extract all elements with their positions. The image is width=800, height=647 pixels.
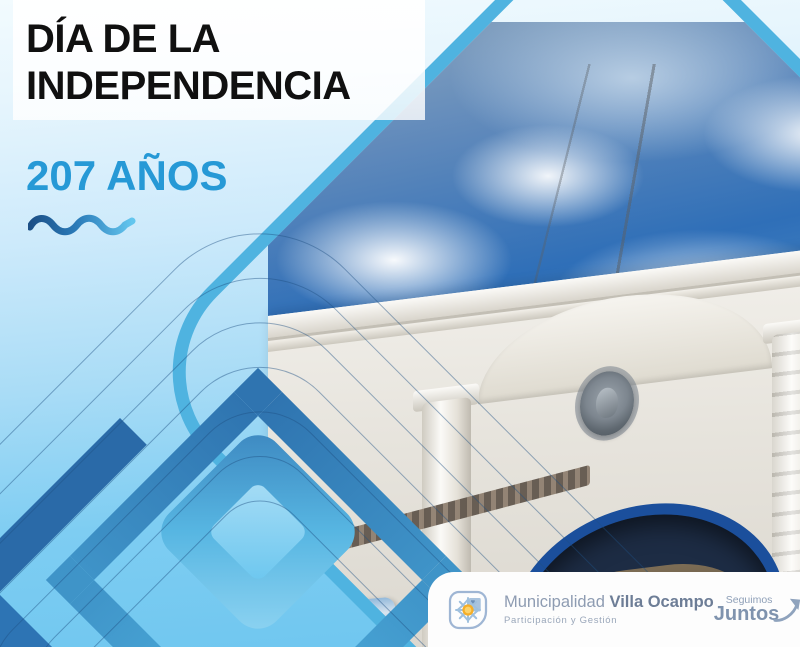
wave-divider-icon <box>28 214 136 236</box>
municipality-name-line: Municipalidad Villa Ocampo <box>504 593 714 611</box>
seguimos-juntos-logo: Seguimos Juntos <box>714 595 800 625</box>
poster-canvas: DÍA DE LAINDEPENDENCIA 207 AÑOS <box>0 0 800 647</box>
title-line-2: INDEPENDENCIA <box>26 63 426 110</box>
municipality-name: Villa Ocampo <box>609 593 713 611</box>
title-line-1: DÍA DE LA <box>26 17 220 61</box>
municipality-tagline: Participación y Gestión <box>504 615 714 626</box>
arrow-up-right-icon <box>773 595 800 625</box>
municipality-prefix: Municipalidad <box>504 593 609 611</box>
years-label: 207 AÑOS <box>26 152 228 200</box>
page-title: DÍA DE LAINDEPENDENCIA <box>26 16 426 110</box>
slogan-big: Juntos <box>714 604 780 624</box>
municipality-text-block: Municipalidad Villa Ocampo Participación… <box>504 593 714 625</box>
logo-bar: Municipalidad Villa Ocampo Participación… <box>428 572 800 647</box>
municipality-emblem-icon <box>444 586 492 634</box>
seguimos-juntos-text: Seguimos Juntos <box>714 595 780 624</box>
